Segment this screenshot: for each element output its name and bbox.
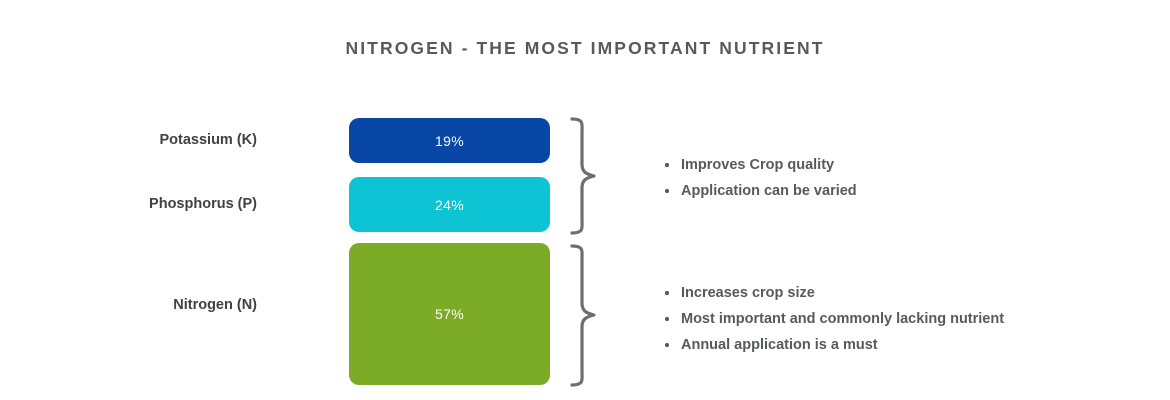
bar-label-phosphorus: Phosphorus (P) bbox=[0, 196, 257, 212]
list-item-label: Annual application is a must bbox=[681, 337, 878, 353]
curly-brace-icon-top bbox=[568, 116, 602, 236]
list-item: Application can be varied bbox=[663, 178, 857, 204]
list-item: Most important and commonly lacking nutr… bbox=[663, 306, 1004, 332]
list-item-label: Improves Crop quality bbox=[681, 157, 834, 173]
bullet-dot-icon bbox=[665, 317, 669, 321]
bar-potassium: 19% bbox=[349, 118, 550, 163]
bullet-dot-icon bbox=[665, 343, 669, 347]
bullet-dot-icon bbox=[665, 163, 669, 167]
nutrient-infographic: NITROGEN - THE MOST IMPORTANT NUTRIENT P… bbox=[0, 0, 1170, 400]
list-item-label: Most important and commonly lacking nutr… bbox=[681, 311, 1004, 327]
list-item: Improves Crop quality bbox=[663, 152, 857, 178]
list-item: Annual application is a must bbox=[663, 332, 1004, 358]
list-item-label: Application can be varied bbox=[681, 183, 857, 199]
bar-label-potassium: Potassium (K) bbox=[0, 132, 257, 148]
list-item: Increases crop size bbox=[663, 280, 1004, 306]
bar-value-nitrogen: 57% bbox=[435, 306, 464, 322]
bar-nitrogen: 57% bbox=[349, 243, 550, 385]
bar-label-nitrogen: Nitrogen (N) bbox=[0, 297, 257, 313]
bar-value-potassium: 19% bbox=[435, 133, 464, 149]
page-title: NITROGEN - THE MOST IMPORTANT NUTRIENT bbox=[0, 38, 1170, 59]
bar-phosphorus: 24% bbox=[349, 177, 550, 232]
bullet-list-top: Improves Crop quality Application can be… bbox=[663, 152, 857, 204]
bar-value-phosphorus: 24% bbox=[435, 197, 464, 213]
bullet-dot-icon bbox=[665, 291, 669, 295]
bullet-list-bottom: Increases crop size Most important and c… bbox=[663, 280, 1004, 358]
curly-brace-icon-bottom bbox=[568, 243, 602, 388]
list-item-label: Increases crop size bbox=[681, 285, 815, 301]
bullet-dot-icon bbox=[665, 189, 669, 193]
